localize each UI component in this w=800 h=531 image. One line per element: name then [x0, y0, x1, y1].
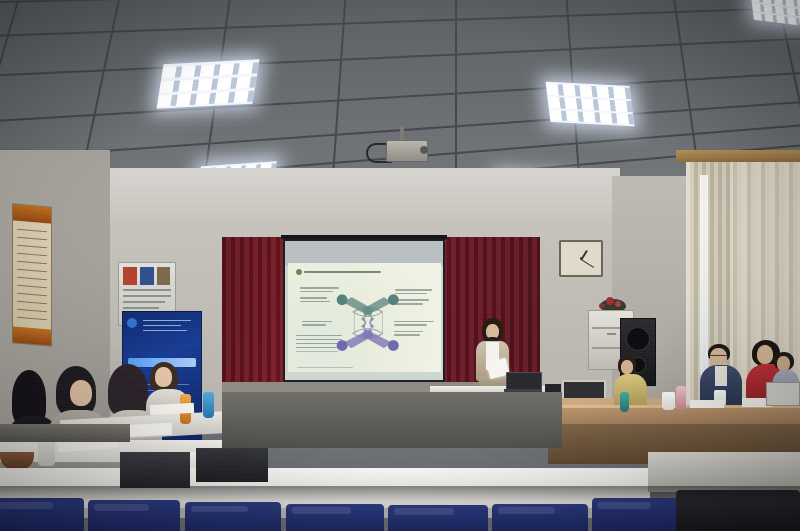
wall-clock-icon	[559, 240, 603, 277]
slide-node-bottom-left	[337, 340, 348, 351]
light-far-right	[751, 0, 800, 26]
slide-bullet-icon	[296, 269, 302, 275]
projector-lens-icon	[420, 146, 428, 154]
slide-node-top-left	[337, 295, 348, 306]
wall-light-gradient	[60, 168, 620, 228]
blue-chair-4[interactable]	[286, 504, 384, 531]
wall-scroll-poster	[12, 203, 52, 346]
slide-title-text	[304, 271, 381, 273]
projection-screen[interactable]	[283, 239, 445, 382]
slide-title-row	[296, 268, 403, 278]
dark-chair-mid-2[interactable]	[196, 448, 268, 482]
slide-node-bottom-right	[388, 340, 399, 351]
screen-surface	[285, 241, 443, 380]
wall-baseboard-left	[0, 424, 130, 442]
water-bottle-teal	[620, 392, 629, 412]
floor	[222, 392, 562, 448]
presentation-slide	[288, 263, 441, 371]
slide-text-bottom-left	[302, 321, 336, 326]
light-front-left	[157, 59, 260, 108]
blue-chair-7[interactable]	[592, 498, 682, 531]
dark-chair-mid-1[interactable]	[120, 452, 190, 488]
curtain-pelmet	[676, 150, 800, 162]
paper-cup	[662, 392, 675, 410]
attendee-laptop[interactable]	[766, 382, 800, 406]
glasses-icon	[710, 355, 727, 359]
slide-x-diagram	[334, 289, 401, 356]
blue-chair-2[interactable]	[88, 500, 180, 531]
light-front-right	[546, 82, 635, 127]
blue-chair-1[interactable]	[0, 498, 84, 531]
classroom-scene	[0, 0, 800, 531]
water-bottle-blue	[203, 392, 214, 418]
blue-chair-5[interactable]	[388, 505, 488, 531]
blue-chair-6[interactable]	[492, 504, 588, 531]
thermos-pink	[676, 386, 686, 410]
chair-row-shadow	[0, 486, 800, 502]
blue-chair-3[interactable]	[185, 502, 281, 531]
slide-footer-text	[297, 367, 352, 369]
presenter-laptop[interactable]	[504, 372, 542, 392]
slide-node-top-right	[388, 295, 399, 306]
screen-roller	[281, 235, 447, 239]
desk-papers-right	[690, 400, 724, 408]
